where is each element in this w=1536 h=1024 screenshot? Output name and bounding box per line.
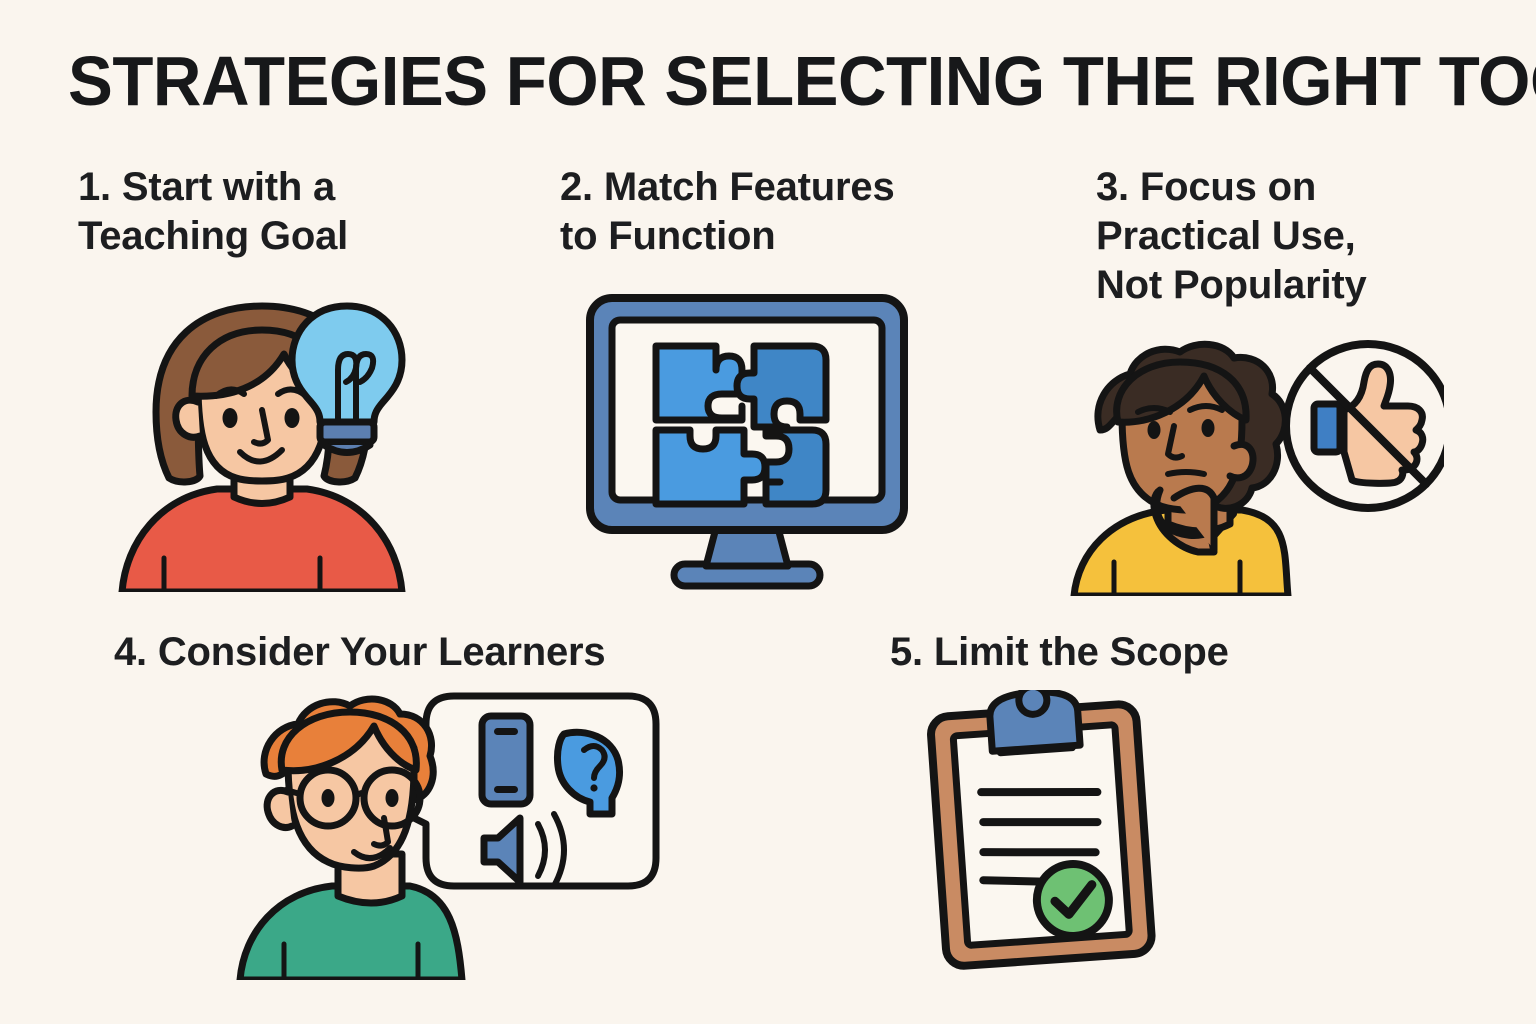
step-3-illustration [1062, 338, 1444, 596]
step-3-heading-line-2: Practical Use, [1096, 212, 1456, 261]
page-title: STRATEGIES FOR SELECTING THE RIGHT TOOL [68, 46, 1412, 117]
step-5-heading-line-1: 5. Limit the Scope [890, 628, 1310, 677]
step-4-heading: 4. Consider Your Learners [114, 628, 674, 677]
step-1-heading: 1. Start with a Teaching Goal [78, 163, 498, 261]
step-2-heading: 2. Match Features to Function [560, 163, 980, 261]
infographic-poster: STRATEGIES FOR SELECTING THE RIGHT TOOL … [0, 0, 1536, 1024]
step-4-illustration [232, 688, 664, 980]
step-5-heading: 5. Limit the Scope [890, 628, 1310, 677]
step-3-heading: 3. Focus on Practical Use, Not Popularit… [1096, 163, 1456, 309]
step-1-heading-line-1: 1. Start with a [78, 163, 498, 212]
step-4-heading-line-1: 4. Consider Your Learners [114, 628, 674, 677]
clipboard-icon [928, 690, 1153, 967]
step-1-illustration [112, 292, 442, 592]
step-3-heading-line-1: 3. Focus on [1096, 163, 1456, 212]
person-thinking-avatar [1074, 344, 1288, 596]
speech-bubble [394, 696, 656, 886]
step-5-illustration [902, 690, 1182, 972]
step-1-heading-line-2: Teaching Goal [78, 212, 498, 261]
check-circle-icon [1034, 862, 1111, 939]
step-2-illustration [582, 288, 912, 590]
step-2-heading-line-1: 2. Match Features [560, 163, 980, 212]
step-2-heading-line-2: to Function [560, 212, 980, 261]
step-3-heading-line-3: Not Popularity [1096, 261, 1456, 310]
phone-icon [482, 716, 530, 804]
no-thumbs-up-icon [1286, 344, 1444, 508]
